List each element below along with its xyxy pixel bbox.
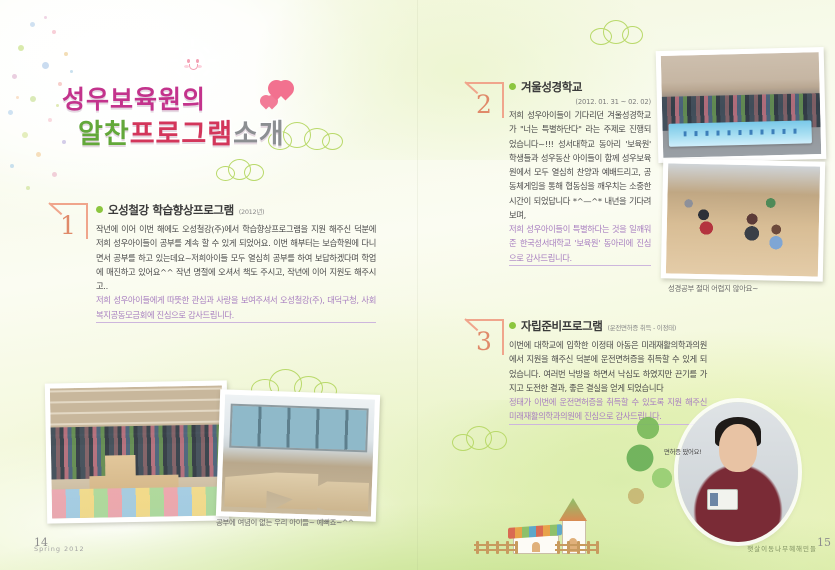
- fence-illustration-left: [474, 541, 518, 554]
- sun-icon: [176, 44, 210, 78]
- article-2: 겨울성경학교 (2012. 01. 31 ~ 02. 02) 저희 성우아이들이…: [509, 79, 651, 266]
- title-seg-2c: 소개: [233, 112, 285, 151]
- page-label-right: 햇살이동나무혜해민들: [747, 545, 817, 553]
- page-gutter: [417, 0, 418, 570]
- confetti-dot: [30, 22, 35, 27]
- article-1-title: 오성철강 학습향상프로그램: [108, 202, 234, 218]
- title-line-2: 알찬 프로그램 소개: [78, 112, 285, 151]
- article-2-paragraph: 저희 성우아이들이 기다리던 겨울성경학교가 "너는 특별하단다" 라는 주제로…: [509, 108, 651, 222]
- photo-winter-bible-group: [656, 47, 827, 163]
- photo-donation-group: [45, 380, 229, 523]
- page-number-right: 15: [817, 536, 831, 549]
- caption-bible-study: 성경공부 절대 어렵지 않아요~: [668, 283, 758, 294]
- confetti-dot: [8, 110, 13, 115]
- caption-study-kids: 공부에 여념이 없는 우리 아이들~ 예뻐죠~^^: [216, 517, 354, 528]
- confetti-dot: [10, 164, 14, 168]
- article-2-body: 저희 성우아이들이 기다리던 겨울성경학교가 "너는 특별하단다" 라는 주제로…: [509, 108, 651, 266]
- article-3-subtitle: (운전면허증 취득 - 이정태): [607, 322, 676, 332]
- article-3-paragraph: 이번에 대학교에 입학한 이정태 아동은 미래재활의학과의원에서 지원을 해주신…: [509, 338, 707, 395]
- confetti-dot: [70, 70, 73, 73]
- fence-illustration-right: [555, 541, 599, 554]
- confetti-dot: [22, 132, 28, 138]
- page-title: 성우보육원의 알찬 프로그램 소개: [52, 78, 372, 160]
- bullet-icon: [96, 206, 103, 213]
- tree-illustration: [614, 404, 686, 544]
- title-line-1: 성우보육원의: [62, 80, 206, 116]
- photo-bible-study-floor: [661, 158, 825, 281]
- confetti-dot: [44, 16, 47, 19]
- article-1: 오성철강 학습향상프로그램 (2012년) 작년에 이어 이번 해에도 오성철강…: [96, 202, 376, 323]
- article-number-badge-3: 3: [466, 319, 504, 355]
- article-1-header: 오성철강 학습향상프로그램 (2012년): [96, 202, 376, 218]
- magazine-spread: 성우보육원의 알찬 프로그램 소개 1 오성철강 학습향상프로그램 (2012년…: [0, 0, 835, 570]
- confetti-dot: [42, 62, 49, 69]
- article-3-header: 자립준비프로그램 (운전면허증 취득 - 이정태): [509, 318, 739, 334]
- confetti-dot: [30, 96, 36, 102]
- article-number-badge-2: 2: [466, 82, 504, 118]
- article-2-title: 겨울성경학교: [521, 79, 582, 95]
- title-seg-2b: 프로그램: [130, 112, 233, 151]
- confetti-dot: [52, 172, 57, 177]
- footer-right: 햇살이동나무혜해민들 15: [747, 536, 817, 555]
- article-2-highlight: 저희 성우아이들이 특별하다는 것을 일깨워준 한국성서대학교 '보육원' 동아…: [509, 222, 651, 266]
- confetti-dot: [52, 30, 56, 34]
- confetti-dot: [26, 186, 30, 190]
- confetti-dot: [36, 152, 41, 157]
- confetti-dot: [64, 52, 68, 56]
- article-2-date: (2012. 01. 31 ~ 02. 02): [509, 98, 651, 106]
- article-number-badge-1: 1: [50, 203, 88, 239]
- confetti-dot: [18, 45, 24, 51]
- article-1-subtitle: (2012년): [239, 206, 265, 216]
- title-seg-2a: 알찬: [78, 112, 130, 151]
- article-1-highlight: 저희 성우아이들에게 따뜻한 관심과 사랑을 보여주셔서 오성철강(주), 대덕…: [96, 293, 376, 323]
- article-2-header: 겨울성경학교: [509, 79, 651, 95]
- article-1-body: 작년에 이어 이번 해에도 오성철강(주)에서 학습향상프로그램을 지원 해주신…: [96, 222, 376, 323]
- article-number-3: 3: [466, 327, 502, 356]
- page-number-left: 14: [34, 536, 48, 549]
- article-number-2: 2: [466, 90, 502, 119]
- heart-icon-small: [260, 95, 272, 107]
- article-1-paragraph: 작년에 이어 이번 해에도 오성철강(주)에서 학습향상프로그램을 지원 해주신…: [96, 222, 376, 293]
- title-seg-1: 성우보육원의: [62, 80, 206, 116]
- footer-left: 14 Spring 2012: [34, 536, 85, 555]
- photo-classroom-study: [216, 389, 380, 522]
- confetti-dot: [16, 96, 19, 99]
- photo-driver-license-portrait: [678, 402, 798, 542]
- bullet-icon: [509, 83, 516, 90]
- bullet-icon: [509, 322, 516, 329]
- article-3-title: 자립준비프로그램: [521, 318, 602, 334]
- article-number-1: 1: [50, 211, 86, 240]
- confetti-dot: [12, 74, 17, 79]
